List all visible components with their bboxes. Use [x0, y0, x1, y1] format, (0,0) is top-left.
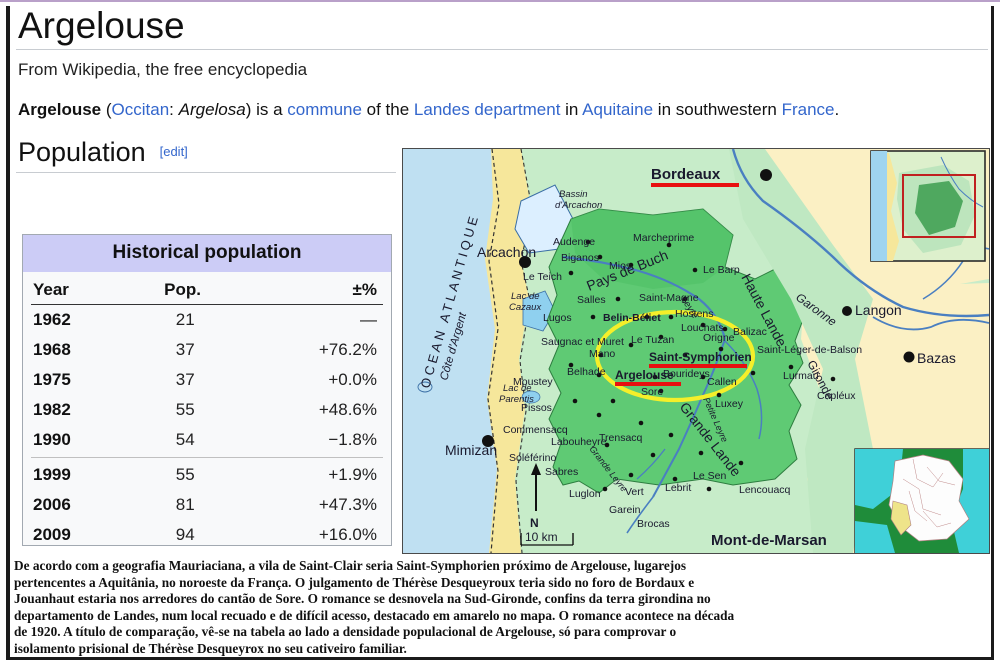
label-langon: Langon [855, 302, 902, 318]
label-pissos: Pissos [521, 402, 552, 414]
label-caplieux: Capléux [817, 390, 856, 402]
cell-pop: 37 [112, 335, 264, 365]
link-aquitaine[interactable]: Aquitaine [582, 100, 653, 119]
cell-pct: +48.6% [264, 395, 391, 425]
label-saint-symphorien: Saint-Symphorien [649, 350, 752, 364]
label-soleferino: Soléférino [509, 452, 556, 464]
label-hostens: Hostens [675, 308, 714, 320]
city-dot-bazas [904, 352, 915, 363]
historical-population-table: Historical population Year Pop. ±% 1962 … [22, 234, 392, 546]
lead-paragraph: Argelouse (Occitan: Argelosa) is a commu… [12, 80, 986, 123]
cell-pop: 81 [112, 490, 264, 520]
label-argelouse: Argelouse [615, 368, 674, 382]
underline-argelouse [615, 382, 681, 386]
label-balizac: Balizac [733, 326, 767, 338]
label-belhade: Belhade [567, 366, 606, 378]
label-mios: Mios [609, 260, 631, 272]
screenshot-root: Argelouse From Wikipedia, the free encyc… [0, 0, 1000, 664]
label-bordeaux: Bordeaux [651, 166, 721, 183]
label-sabres: Sabres [545, 466, 578, 478]
label-lurmau: Lurmau [783, 370, 819, 382]
link-france[interactable]: France [782, 100, 835, 119]
period-text: . [835, 100, 840, 119]
label-trensacq: Trensacq [599, 432, 643, 444]
label-vert: Vert [625, 486, 644, 498]
page-title: Argelouse [12, 6, 990, 49]
cell-pct: +76.2% [264, 335, 391, 365]
label-sore: Sore [641, 386, 663, 398]
label-lencouacq: Lencouacq [739, 484, 791, 496]
table-row: 1982 55 +48.6% [23, 395, 391, 425]
edit-section-link[interactable]: [edit] [146, 144, 188, 159]
label-garein: Garein [609, 504, 641, 516]
label-arcachon: Arcachon [477, 244, 536, 260]
cell-pct: — [264, 305, 391, 335]
inset-locator-aquitaine [871, 151, 985, 261]
cell-pop: 37 [112, 365, 264, 395]
cell-year: 1982 [23, 395, 112, 425]
label-lugos: Lugos [543, 312, 572, 324]
label-salles: Salles [577, 294, 606, 306]
table-row: 1990 54 −1.8% [23, 425, 391, 455]
cell-pop: 54 [112, 425, 264, 455]
cell-year: 1999 [23, 460, 112, 490]
cell-pct: +47.3% [264, 490, 391, 520]
cell-pct: +1.9% [264, 460, 391, 490]
label-lac-cazaux-2: Cazaux [509, 302, 542, 313]
label-brocas: Brocas [637, 518, 670, 530]
label-luglon: Luglon [569, 488, 601, 500]
table-row: 2006 81 +47.3% [23, 490, 391, 520]
caption-line: De acordo com a geografia Mauriaciana, a… [14, 558, 988, 575]
cell-pct: +16.0% [264, 520, 391, 550]
label-belin-beliet: Belin-Béliet [603, 312, 661, 324]
link-landes-department[interactable]: Landes department [414, 100, 561, 119]
table-row: 1975 37 +0.0% [23, 365, 391, 395]
map-aquitaine-landes[interactable]: OCEAN ATLANTIQUE Côte d'Argent Bassin d'… [402, 148, 990, 554]
label-mano: Mano [589, 348, 615, 360]
of-the-text: of the [362, 100, 414, 119]
label-luxey: Luxey [715, 398, 744, 410]
label-north: N [530, 516, 539, 530]
site-tagline: From Wikipedia, the free encyclopedia [12, 50, 990, 80]
label-moustey: Moustey [513, 376, 553, 388]
label-saint-leger: Saint-Léger-de-Balson [757, 344, 862, 356]
table-row: 1968 37 +76.2% [23, 335, 391, 365]
cell-year: 2009 [23, 520, 112, 550]
label-origne: Origne [703, 332, 735, 344]
label-bazas: Bazas [917, 350, 956, 366]
cell-pop: 55 [112, 395, 264, 425]
caption-line: departamento de Landes, num local recuad… [14, 608, 988, 625]
link-occitan[interactable]: Occitan [112, 100, 170, 119]
cell-year: 1990 [23, 425, 112, 455]
label-saint-magne: Saint-Magne [639, 292, 699, 304]
cell-pop: 21 [112, 305, 264, 335]
cell-pct: −1.8% [264, 425, 391, 455]
label-audenge: Audenge [553, 236, 595, 248]
table-title: Historical population [23, 235, 391, 272]
label-lebrit: Lebrit [665, 482, 691, 494]
cell-year: 1968 [23, 335, 112, 365]
label-mont-de-marsan: Mont-de-Marsan [711, 532, 827, 549]
city-dot-langon [842, 306, 852, 316]
label-le-barp: Le Barp [703, 264, 740, 276]
label-commensacq: Commensacq [503, 424, 568, 436]
colon-text: : [169, 100, 178, 119]
caption-line: de 1920. A título de comparação, vê-se n… [14, 624, 988, 641]
occitan-name: Argelosa [179, 100, 246, 119]
label-bassin-arcachon-1: Bassin [559, 189, 588, 200]
portuguese-caption: De acordo com a geografia Mauriaciana, a… [14, 558, 988, 658]
caption-line: Jouanhaut estaria nos arredores do cantã… [14, 591, 988, 608]
underline-bordeaux [651, 183, 739, 187]
label-le-sen: Le Sen [693, 470, 726, 482]
label-mimizan: Mimizan [445, 442, 497, 458]
cell-pop: 94 [112, 520, 264, 550]
table-row: 1999 55 +1.9% [23, 460, 391, 490]
city-dot-bordeaux [760, 169, 772, 181]
caption-line: pertencentes a Aquitânia, no noroeste da… [14, 575, 988, 592]
label-saugnac: Saugnac et Muret [541, 336, 624, 348]
cell-year: 1975 [23, 365, 112, 395]
label-bassin-arcachon-2: d'Arcachon [555, 200, 602, 211]
cell-year: 2006 [23, 490, 112, 520]
cell-year: 1962 [23, 305, 112, 335]
caption-line: isolamento prisional de Thérèse Desqueyr… [14, 641, 988, 658]
section-divider [16, 172, 396, 173]
table-row: 2009 94 +16.0% [23, 520, 391, 550]
in-text-1: in [560, 100, 582, 119]
column-header-pct: ±% [264, 272, 391, 303]
label-le-teich: Le Teich [523, 271, 562, 283]
paren-open: ( [101, 100, 111, 119]
paren-close: ) is a [246, 100, 288, 119]
in-text-2: in southwestern [653, 100, 782, 119]
link-commune[interactable]: commune [287, 100, 362, 119]
cell-pop: 55 [112, 460, 264, 490]
table-row: 1962 21 — [23, 305, 391, 335]
column-header-year: Year [23, 272, 112, 303]
label-lac-cazaux-1: Lac de [511, 291, 540, 302]
label-scale: 10 km [525, 530, 558, 544]
column-header-pop: Pop. [112, 272, 264, 303]
label-marcheprime: Marcheprime [633, 232, 694, 244]
inset-locator-france [855, 449, 989, 553]
cell-pct: +0.0% [264, 365, 391, 395]
label-callen: Callen [707, 376, 737, 388]
section-heading-population: Population [12, 123, 146, 170]
label-le-tuzan: Le Tuzan [631, 334, 674, 346]
subject-name: Argelouse [18, 100, 101, 119]
label-biganos: Biganos [561, 252, 599, 264]
